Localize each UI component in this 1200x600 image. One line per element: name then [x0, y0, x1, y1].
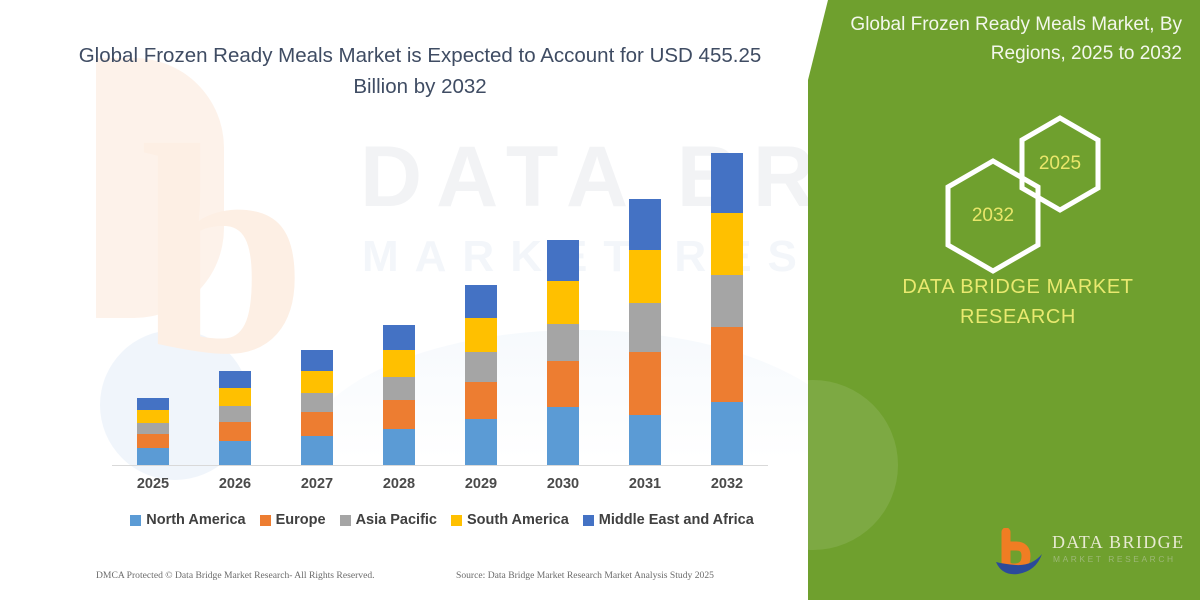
- bar-segment: [629, 303, 661, 352]
- bar-segment: [547, 240, 579, 281]
- bar-segment: [383, 429, 415, 465]
- bridge-mark-icon: [992, 528, 1050, 580]
- bar-segment: [383, 400, 415, 429]
- legend-swatch-icon: [583, 515, 594, 526]
- legend-swatch-icon: [130, 515, 141, 526]
- footer-source: Source: Data Bridge Market Research Mark…: [456, 570, 714, 581]
- bar-segment: [465, 352, 497, 382]
- legend-label: Europe: [276, 512, 326, 528]
- bar-segment: [301, 393, 333, 412]
- logo-subtitle: MARKET RESEARCH: [1053, 554, 1176, 564]
- bar-segment: [137, 434, 169, 448]
- bar-segment: [219, 388, 251, 406]
- brand-line-2: RESEARCH: [960, 306, 1076, 328]
- x-axis-label-2025: 2025: [113, 476, 193, 492]
- x-axis-label-2030: 2030: [523, 476, 603, 492]
- x-axis-label-2031: 2031: [605, 476, 685, 492]
- x-axis-labels: 20252026202720282029203020312032: [112, 476, 768, 498]
- bar-segment: [711, 153, 743, 213]
- chart-plot-area: [112, 140, 768, 466]
- bar-segment: [465, 382, 497, 419]
- bar-segment: [629, 352, 661, 415]
- hexagon-2032: 2032: [938, 155, 1048, 277]
- legend-label: North America: [146, 512, 245, 528]
- bar-segment: [137, 410, 169, 423]
- bar-segment: [301, 371, 333, 393]
- bar-segment: [465, 419, 497, 465]
- bar-segment: [137, 448, 169, 465]
- right-green-panel: Global Frozen Ready Meals Market, By Reg…: [808, 0, 1200, 600]
- bar-segment: [465, 285, 497, 318]
- panel-title: Global Frozen Ready Meals Market, By Reg…: [832, 10, 1182, 68]
- bar-stack-2027: [301, 350, 333, 465]
- bar-segment: [219, 422, 251, 441]
- bar-segment: [547, 324, 579, 361]
- brand-line-1: DATA BRIDGE MARKET: [902, 276, 1133, 298]
- bar-segment: [711, 213, 743, 275]
- x-axis-label-2032: 2032: [687, 476, 767, 492]
- bar-stack-2026: [219, 371, 251, 465]
- legend-label: South America: [467, 512, 569, 528]
- chart-title: Global Frozen Ready Meals Market is Expe…: [70, 40, 770, 102]
- bar-segment: [711, 327, 743, 402]
- logo-title: DATA BRIDGE: [1052, 532, 1184, 553]
- brand-name: DATA BRIDGE MARKET RESEARCH: [868, 272, 1168, 332]
- bar-segment: [711, 275, 743, 327]
- bar-segment: [629, 250, 661, 303]
- bar-segment: [301, 436, 333, 465]
- footer-copyright: DMCA Protected © Data Bridge Market Rese…: [96, 570, 375, 581]
- x-axis-label-2028: 2028: [359, 476, 439, 492]
- x-axis-label-2027: 2027: [277, 476, 357, 492]
- hexagon-2032-label: 2032: [972, 205, 1014, 227]
- legend-item-south-america[interactable]: South America: [451, 512, 569, 528]
- bar-segment: [219, 371, 251, 388]
- bar-segment: [383, 377, 415, 400]
- legend-item-north-america[interactable]: North America: [130, 512, 245, 528]
- bar-segment: [219, 441, 251, 465]
- bar-segment: [547, 281, 579, 324]
- bar-segment: [137, 423, 169, 434]
- legend-item-europe[interactable]: Europe: [260, 512, 326, 528]
- bar-segment: [629, 415, 661, 465]
- bar-segment: [547, 361, 579, 407]
- bar-segment: [383, 350, 415, 377]
- bar-segment: [219, 406, 251, 422]
- x-axis-label-2029: 2029: [441, 476, 521, 492]
- bar-segment: [383, 325, 415, 350]
- bar-segment: [629, 199, 661, 250]
- bar-stack-2025: [137, 398, 169, 465]
- bar-stack-2032: [711, 153, 743, 465]
- bar-stack-2029: [465, 285, 497, 465]
- data-bridge-logo: DATA BRIDGE MARKET RESEARCH: [992, 528, 1182, 584]
- legend-swatch-icon: [260, 515, 271, 526]
- x-axis-line: [112, 465, 768, 466]
- bar-stack-2031: [629, 199, 661, 465]
- legend-swatch-icon: [340, 515, 351, 526]
- bar-stack-2030: [547, 240, 579, 465]
- bar-segment: [301, 350, 333, 371]
- bar-stack-2028: [383, 325, 415, 465]
- bar-segment: [465, 318, 497, 352]
- legend-label: Asia Pacific: [356, 512, 437, 528]
- x-axis-label-2026: 2026: [195, 476, 275, 492]
- bar-segment: [137, 398, 169, 410]
- legend-label: Middle East and Africa: [599, 512, 754, 528]
- bar-segment: [711, 402, 743, 465]
- legend-swatch-icon: [451, 515, 462, 526]
- decorative-panel-circle: [808, 380, 898, 550]
- legend-item-asia-pacific[interactable]: Asia Pacific: [340, 512, 437, 528]
- legend-item-middle-east-and-africa[interactable]: Middle East and Africa: [583, 512, 754, 528]
- chart-legend: North AmericaEuropeAsia PacificSouth Ame…: [112, 512, 772, 528]
- bar-segment: [547, 407, 579, 465]
- infographic-canvas: b DATA BRIDGE MARKET RESEARCH Global Fro…: [0, 0, 1200, 600]
- bar-segment: [301, 412, 333, 436]
